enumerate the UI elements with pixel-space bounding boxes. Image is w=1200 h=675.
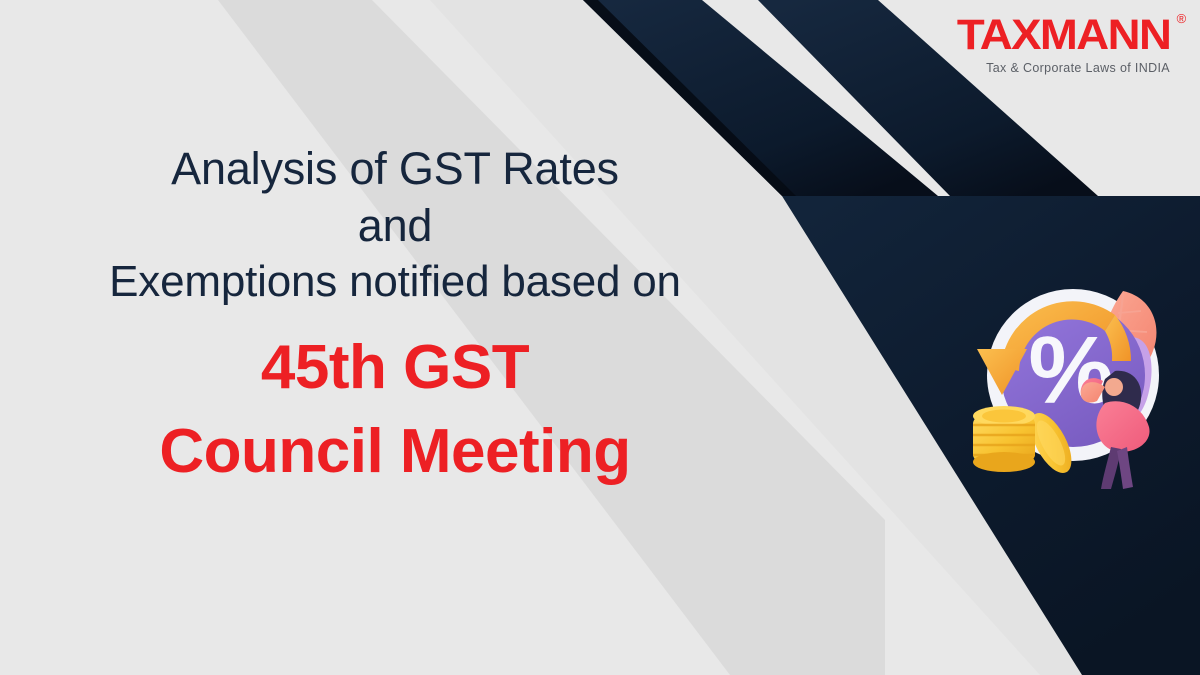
logo-wordmark-text: TAXMANN — [957, 11, 1170, 59]
headline-line-3: Exemptions notified based on — [0, 254, 790, 310]
percent-symbol: % — [1028, 317, 1113, 424]
taxmann-logo[interactable]: TAXMANN ® Tax & Corporate Laws of INDIA — [969, 14, 1170, 75]
headline-block: Analysis of GST Rates and Exemptions not… — [0, 140, 790, 494]
gst-percent-illustration: % — [955, 275, 1200, 505]
emphasis-line-1: 45th GST — [0, 326, 790, 410]
promo-banner: TAXMANN ® Tax & Corporate Laws of INDIA … — [0, 0, 1200, 675]
headline-line-1: Analysis of GST Rates — [0, 140, 790, 197]
emphasis-line-2: Council Meeting — [0, 410, 790, 494]
logo-wordmark: TAXMANN ® — [957, 14, 1170, 57]
emphasis-block: 45th GST Council Meeting — [0, 326, 790, 493]
headline-line-2: and — [0, 197, 790, 254]
logo-tagline: Tax & Corporate Laws of INDIA — [969, 62, 1170, 75]
registered-trademark-icon: ® — [1176, 12, 1186, 25]
